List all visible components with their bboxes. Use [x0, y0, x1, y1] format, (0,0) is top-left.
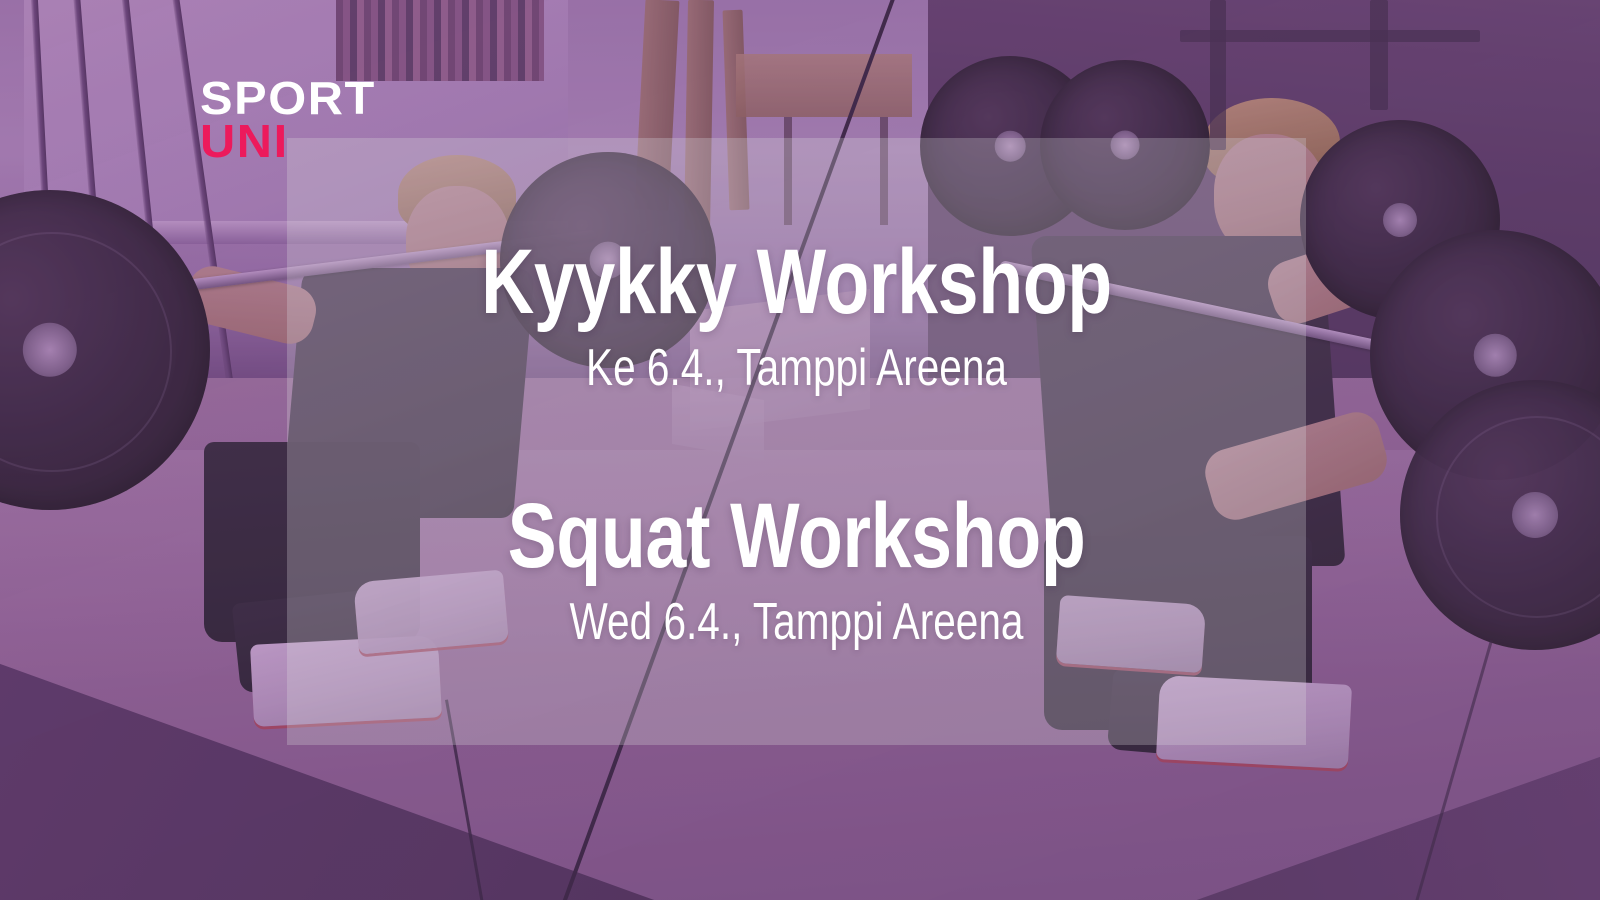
- event-block-finnish: Kyykky Workshop Ke 6.4., Tamppi Areena: [287, 236, 1306, 394]
- poster-canvas: SPORT UNI Kyykky Workshop Ke 6.4., Tampp…: [0, 0, 1600, 900]
- content-overlay-inner: Kyykky Workshop Ke 6.4., Tamppi Areena S…: [287, 138, 1306, 745]
- event-block-english: Squat Workshop Wed 6.4., Tamppi Areena: [287, 490, 1306, 648]
- event-title-finnish: Kyykky Workshop: [389, 236, 1204, 328]
- event-title-english: Squat Workshop: [389, 490, 1204, 582]
- event-details-finnish: Ke 6.4., Tamppi Areena: [399, 342, 1194, 394]
- event-details-english: Wed 6.4., Tamppi Areena: [399, 596, 1194, 648]
- logo-word-sport: SPORT: [200, 78, 376, 118]
- content-overlay-panel: Kyykky Workshop Ke 6.4., Tamppi Areena S…: [287, 138, 1306, 745]
